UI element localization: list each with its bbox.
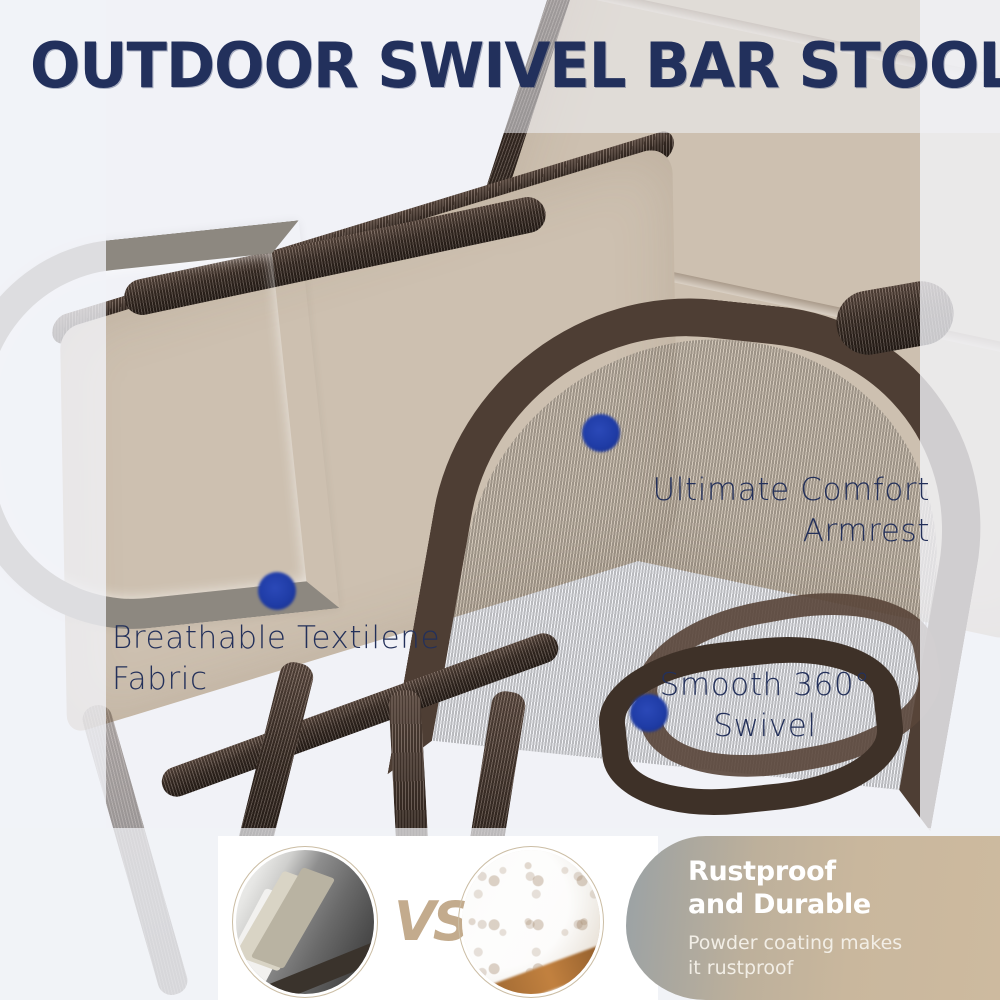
rustproof-subtext-line2: it rustproof (688, 956, 988, 981)
rustproof-heading-line1: Rustproof (688, 856, 988, 889)
page-title: OUTDOOR SWIVEL BAR STOOLS (30, 30, 1000, 103)
rusted-metal-photo-inner (462, 850, 600, 994)
rusted-metal-photo (458, 846, 604, 998)
callout-fabric-line2: Fabric (112, 659, 552, 700)
callout-armrest-line2: Armrest (470, 511, 930, 552)
callout-armrest-line1: Ultimate Comfort (470, 470, 930, 511)
leg-rear-left (79, 702, 191, 999)
callout-marker-armrest[interactable] (582, 414, 620, 452)
rustproof-panel-text: Rustproof and Durable Powder coating mak… (688, 856, 988, 980)
callout-swivel-line1: Smooth 360° (600, 665, 930, 706)
rustproof-panel: Rustproof and Durable Powder coating mak… (626, 836, 1000, 1000)
powder-coated-photo (232, 846, 378, 998)
callout-marker-fabric[interactable] (258, 572, 296, 610)
callout-swivel-line2: Swivel (600, 706, 930, 747)
rustproof-subtext-line1: Powder coating makes (688, 931, 988, 956)
powder-coated-photo-inner (236, 850, 374, 994)
comparison-banner: VS Rustproof and Durable Powder coating … (218, 836, 1000, 1000)
callout-label-armrest: Ultimate Comfort Armrest (470, 470, 930, 552)
infographic-canvas: OUTDOOR SWIVEL BAR STOOLS Ultimate Comfo… (0, 0, 1000, 1000)
rustproof-subtext: Powder coating makes it rustproof (688, 931, 988, 980)
rustproof-heading-line2: and Durable (688, 889, 988, 922)
callout-fabric-line1: Breathable Textilene (112, 618, 552, 659)
callout-label-fabric: Breathable Textilene Fabric (112, 618, 552, 700)
rustproof-heading: Rustproof and Durable (688, 856, 988, 922)
callout-label-swivel: Smooth 360° Swivel (600, 665, 930, 747)
